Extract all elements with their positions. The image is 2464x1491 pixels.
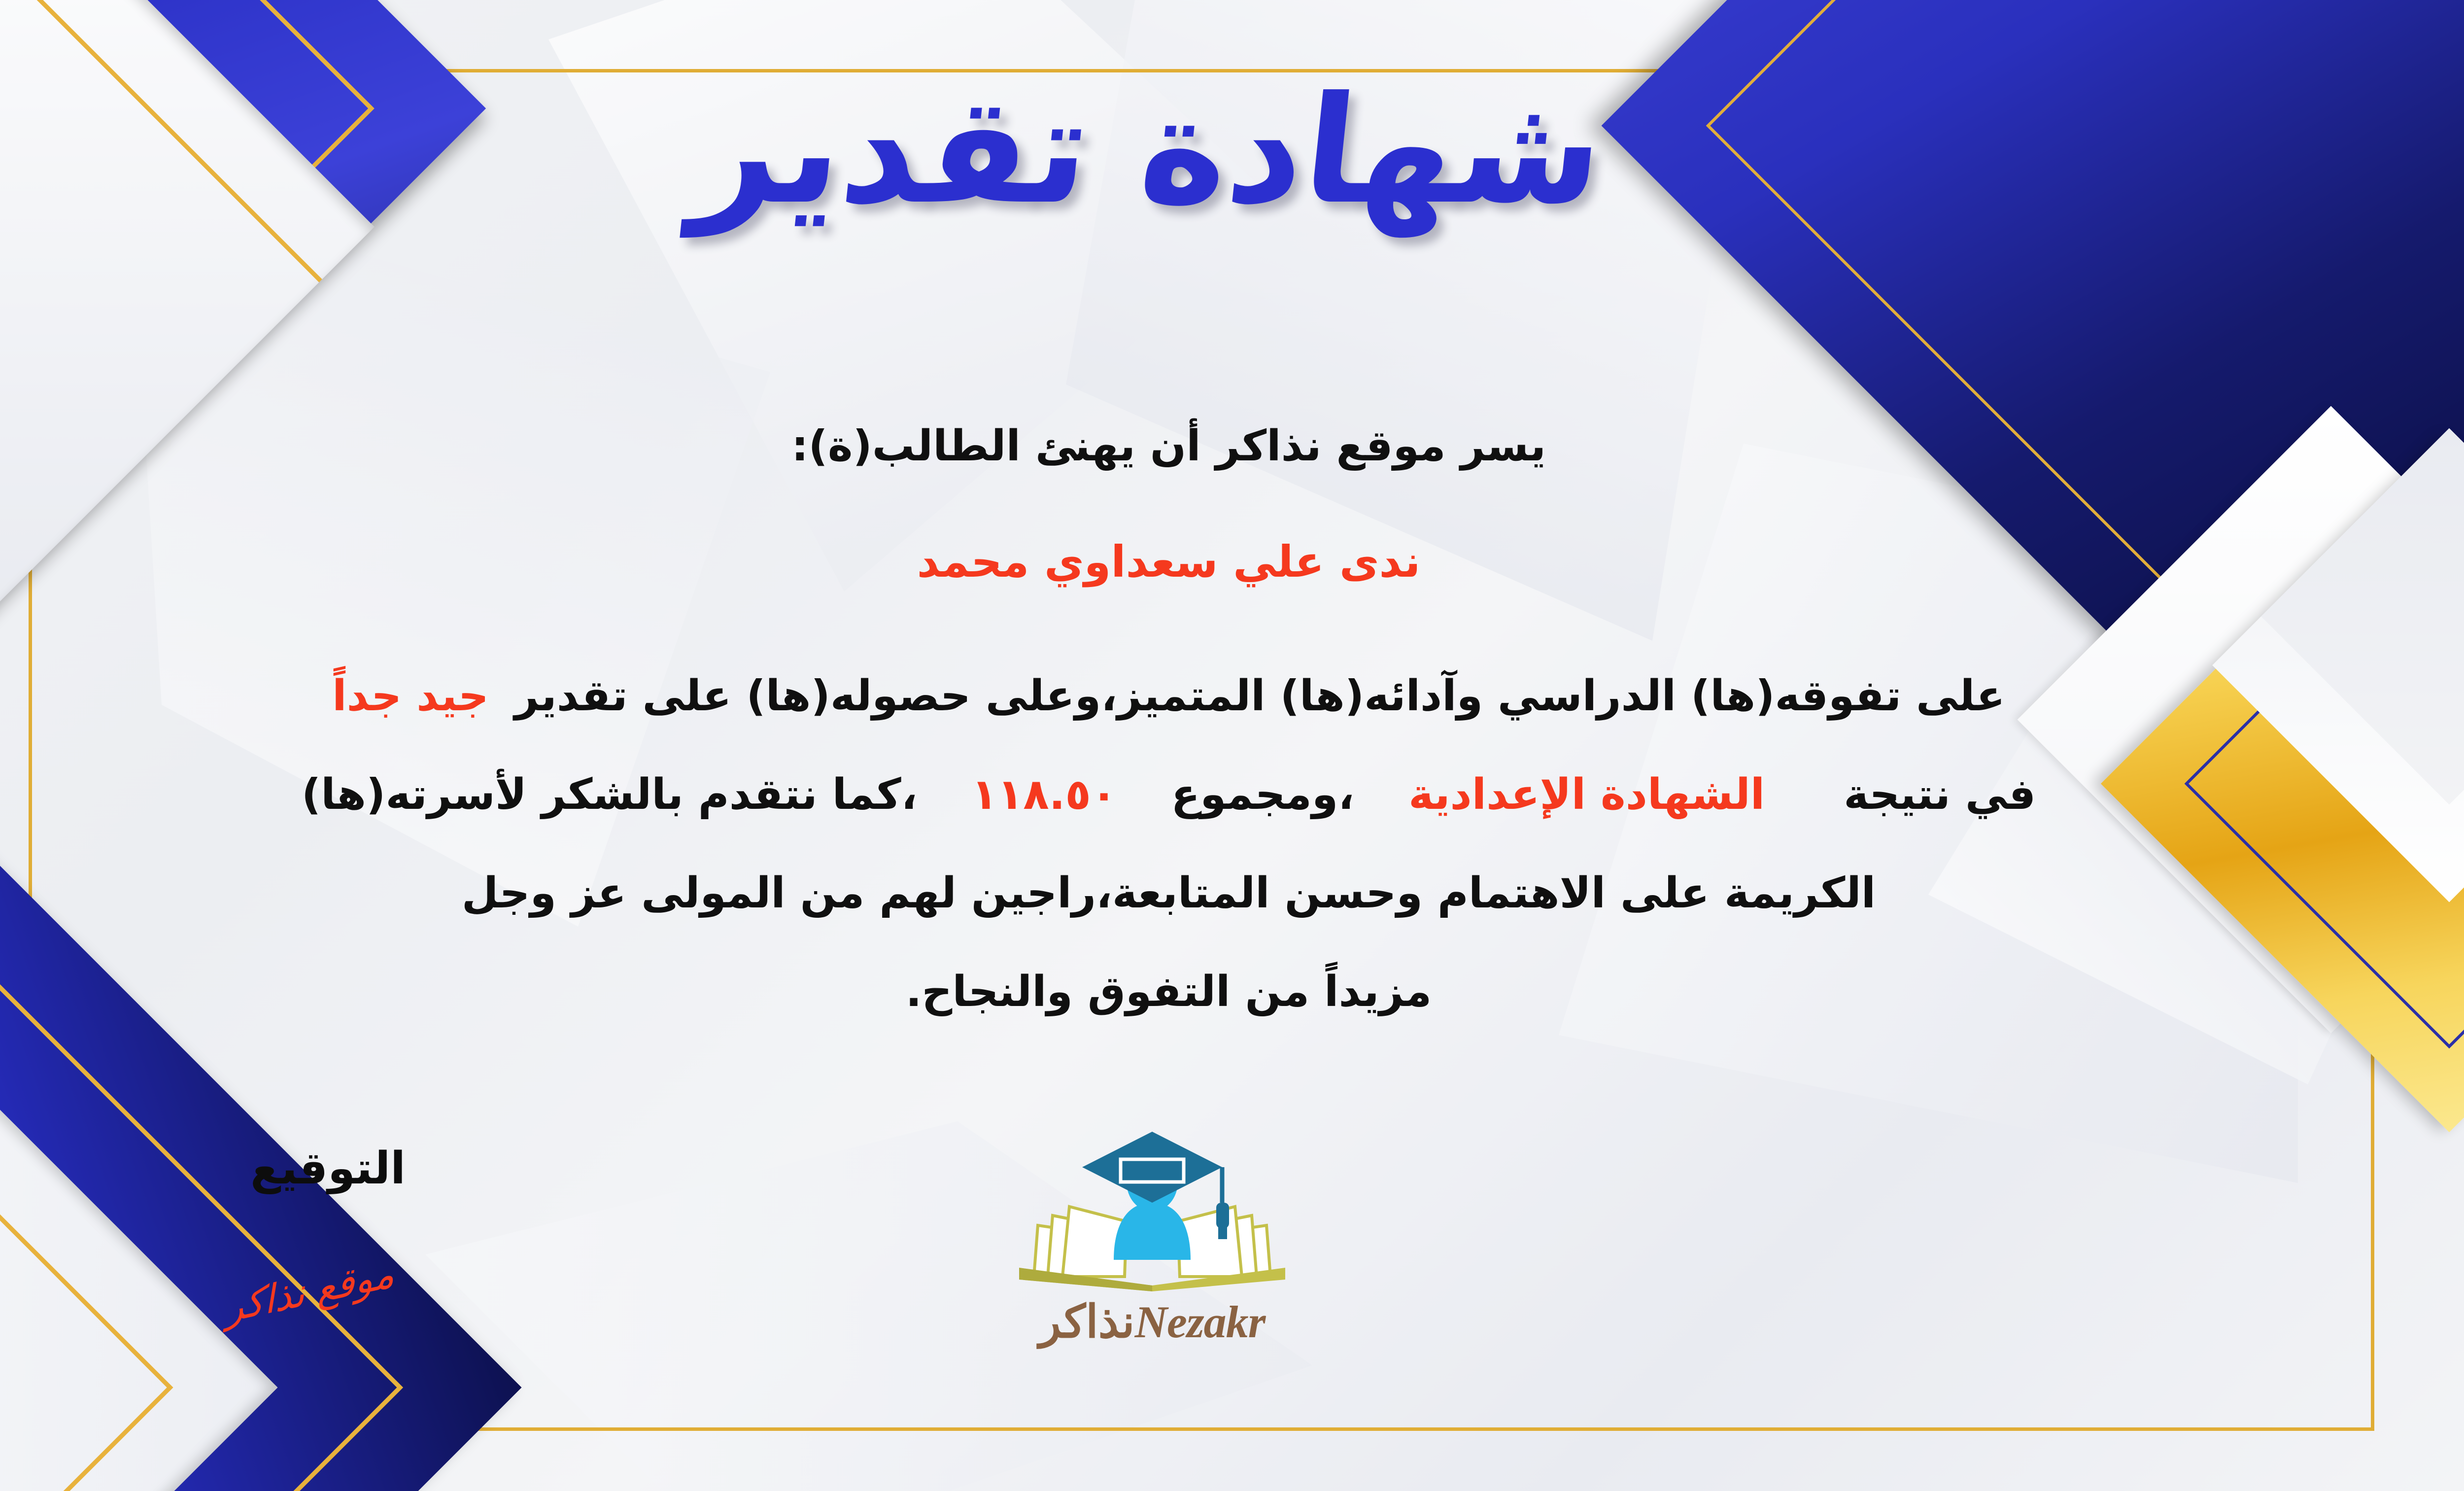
result-prefix: في نتيجة [1844,770,2036,819]
grade-value: جيد جداً [332,671,489,721]
closing-line: مزيداً من التفوق والنجاح. [0,967,2341,1016]
student-name: ندى علي سعداوي محمد [0,536,2341,587]
total-label: ،ومجموع [1171,770,1354,819]
achievement-text: على تفوقه(ها) الدراسي وآدائه(ها) المتميز… [514,671,2005,721]
intro-line: يسر موقع نذاكر أن يهنئ الطالب(ة): [0,421,2341,471]
thanks-text: ،كما نتقدم بالشكر لأسرته(ها) [302,770,917,819]
achievement-line: على تفوقه(ها) الدراسي وآدائه(ها) المتميز… [0,671,2341,721]
exam-name: الشهادة الإعدادية [1408,770,1765,819]
brand-logo: Nezakrنذاكر [999,1129,1305,1348]
brand-name-latin: Nezakr [1135,1297,1266,1347]
thanks-continuation-line: الكريمة على الاهتمام وحسن المتابعة،راجين… [0,868,2341,918]
graduate-book-logo-icon [999,1129,1305,1291]
certificate-canvas: شهادة تقدير يسر موقع نذاكر أن يهنئ الطال… [0,0,2464,1491]
page-title: شهادة تقدير [0,58,2464,243]
brand-name-arabic: نذاكر [1039,1297,1135,1347]
signature-mark: موقع نذاكر [224,1251,396,1331]
total-score-value: ١١٨.٥٠ [971,770,1117,819]
signature-label: التوقيع [250,1143,406,1194]
brand-name: Nezakrنذاكر [999,1295,1305,1348]
result-line: في نتيجةالشهادة الإعدادية،ومجموع١١٨.٥٠،ك… [0,770,2341,819]
